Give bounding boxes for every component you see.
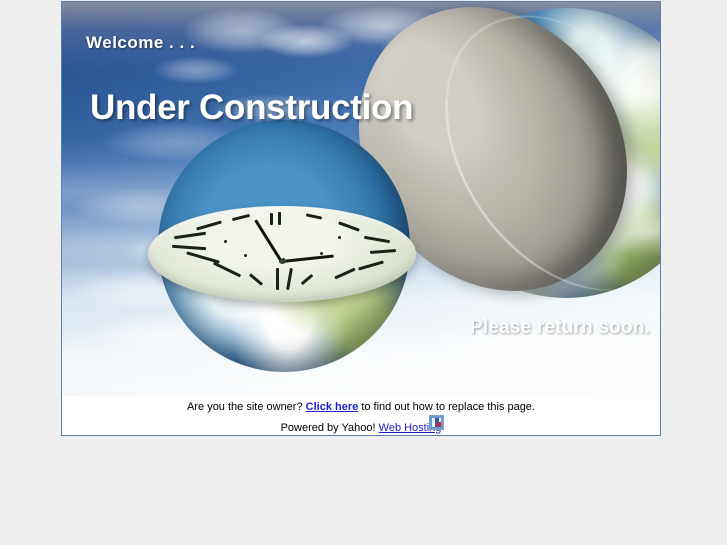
clock-minute-hand xyxy=(254,219,283,263)
clock-center-pin xyxy=(279,259,286,264)
powered-by-notice: Powered by Yahoo! Web Hosting xyxy=(62,414,660,435)
clock-tick xyxy=(278,212,281,225)
clock-tick xyxy=(338,221,360,231)
site-owner-question: Are you the site owner? xyxy=(187,401,303,413)
broken-image-corner xyxy=(437,422,441,427)
clock-tick xyxy=(172,245,206,250)
site-owner-notice: Are you the site owner? Click here to fi… xyxy=(62,396,660,414)
clock-tick xyxy=(249,273,263,286)
under-construction-banner: Welcome . . . Under Construction Please … xyxy=(62,2,660,396)
clock-face xyxy=(148,206,416,302)
clock-tick xyxy=(358,260,384,270)
broken-image-icon xyxy=(429,415,444,430)
clock-tick xyxy=(186,251,220,263)
clock-tick xyxy=(306,213,322,219)
footer: Are you the site owner? Click here to fi… xyxy=(62,396,660,435)
clock-tick xyxy=(370,249,396,254)
clock-tick xyxy=(364,236,390,243)
powered-by-text: Powered by Yahoo! xyxy=(281,422,376,434)
clock-tick xyxy=(334,268,355,280)
clock-tick xyxy=(270,213,273,225)
clock-tick xyxy=(286,268,293,290)
clock-dot xyxy=(244,254,247,257)
clock-dot xyxy=(338,236,341,239)
clock-tick xyxy=(301,274,314,285)
clock-dot xyxy=(320,252,323,255)
page-title: Under Construction xyxy=(90,88,413,128)
clock-dot xyxy=(224,240,227,243)
page-frame: Welcome . . . Under Construction Please … xyxy=(61,1,661,436)
click-here-link[interactable]: Click here xyxy=(306,401,359,413)
clock-tick xyxy=(196,220,222,230)
return-soon-text: Please return soon. xyxy=(470,317,650,339)
clock-hour-hand xyxy=(282,255,334,263)
clock-tick xyxy=(232,214,250,221)
clock-tick xyxy=(213,262,241,278)
clock-tick xyxy=(276,268,279,290)
welcome-text: Welcome . . . xyxy=(86,33,195,53)
clock-tick xyxy=(174,232,206,239)
replace-page-text: to find out how to replace this page. xyxy=(361,401,535,413)
clock xyxy=(148,198,416,318)
